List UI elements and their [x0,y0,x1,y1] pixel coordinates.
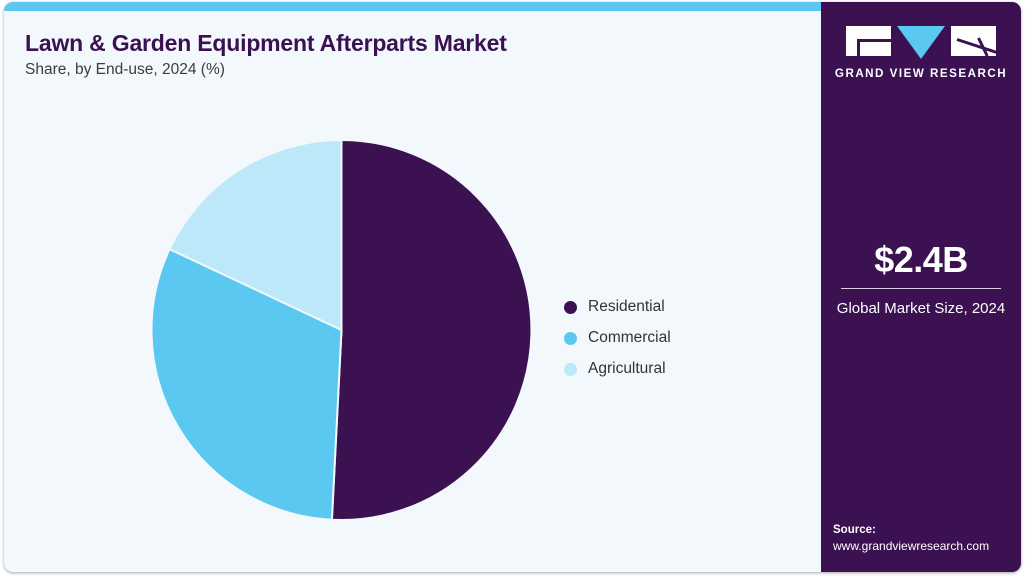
pie-slice-residential[interactable] [332,140,532,520]
logo-letter-marks [821,26,1021,58]
brand-sidebar: GRAND VIEW RESEARCH $2.4B Global Market … [821,2,1021,572]
legend-item-agricultural[interactable]: Agricultural [564,354,794,384]
top-accent-bar [4,2,821,11]
market-size-caption: Global Market Size, 2024 [831,298,1011,319]
legend-swatch-agricultural [564,363,577,376]
legend-label-residential: Residential [588,298,665,316]
legend-label-commercial: Commercial [588,329,671,347]
chart-legend: Residential Commercial Agricultural [564,292,794,385]
legend-swatch-residential [564,301,577,314]
source-block: Source: www.grandviewresearch.com [833,522,1019,555]
market-size-value: $2.4B [831,240,1011,280]
pie-slice-group [151,140,531,520]
grand-view-research-logo: GRAND VIEW RESEARCH [821,26,1021,80]
stat-divider [841,288,1001,289]
market-size-stat: $2.4B Global Market Size, 2024 [831,240,1011,319]
chart-panel: Lawn & Garden Equipment Afterparts Marke… [4,11,821,572]
legend-item-residential[interactable]: Residential [564,292,794,322]
logo-wordmark: GRAND VIEW RESEARCH [821,67,1021,80]
source-label: Source: [833,522,1019,538]
logo-g-icon [846,26,891,56]
logo-v-triangle-icon [897,26,945,59]
infographic-card: Lawn & Garden Equipment Afterparts Marke… [4,2,1021,572]
legend-label-agricultural: Agricultural [588,360,666,378]
logo-r-icon [951,26,996,56]
legend-swatch-commercial [564,332,577,345]
legend-item-commercial[interactable]: Commercial [564,323,794,353]
source-url: www.grandviewresearch.com [833,538,1019,555]
